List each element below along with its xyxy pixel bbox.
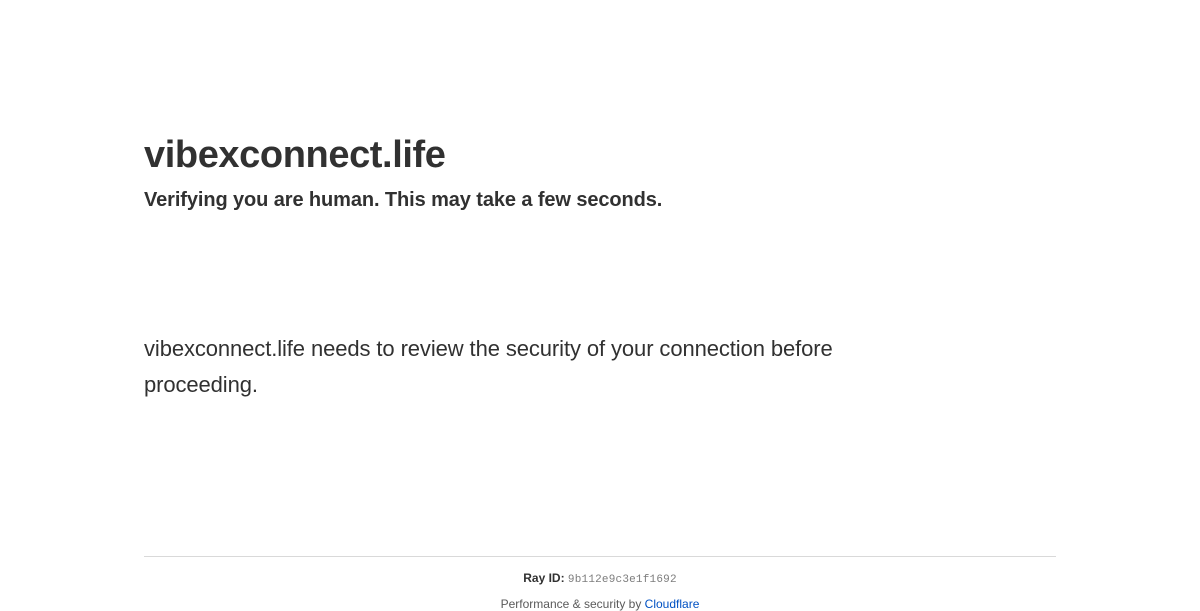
ray-id-line: Ray ID: 9b112e9c3e1f1692 (144, 571, 1056, 587)
content-container: vibexconnect.life Verifying you are huma… (144, 0, 1056, 600)
verification-subtitle: Verifying you are human. This may take a… (144, 178, 1056, 214)
ray-id-value: 9b112e9c3e1f1692 (568, 574, 677, 586)
footer: Ray ID: 9b112e9c3e1f1692 Performance & s… (144, 556, 1056, 611)
page-title: vibexconnect.life (144, 132, 1056, 178)
security-review-text: vibexconnect.life needs to review the se… (144, 307, 944, 403)
ray-id-label: Ray ID: (523, 571, 564, 585)
challenge-page: vibexconnect.life Verifying you are huma… (0, 0, 1200, 600)
performance-security-prefix: Performance & security by (501, 597, 645, 611)
main-content: vibexconnect.life Verifying you are huma… (144, 132, 1056, 403)
turnstile-challenge-widget[interactable] (144, 242, 444, 307)
cloudflare-link[interactable]: Cloudflare (645, 597, 700, 611)
challenge-area (144, 242, 444, 307)
performance-security-line: Performance & security by Cloudflare (144, 597, 1056, 611)
